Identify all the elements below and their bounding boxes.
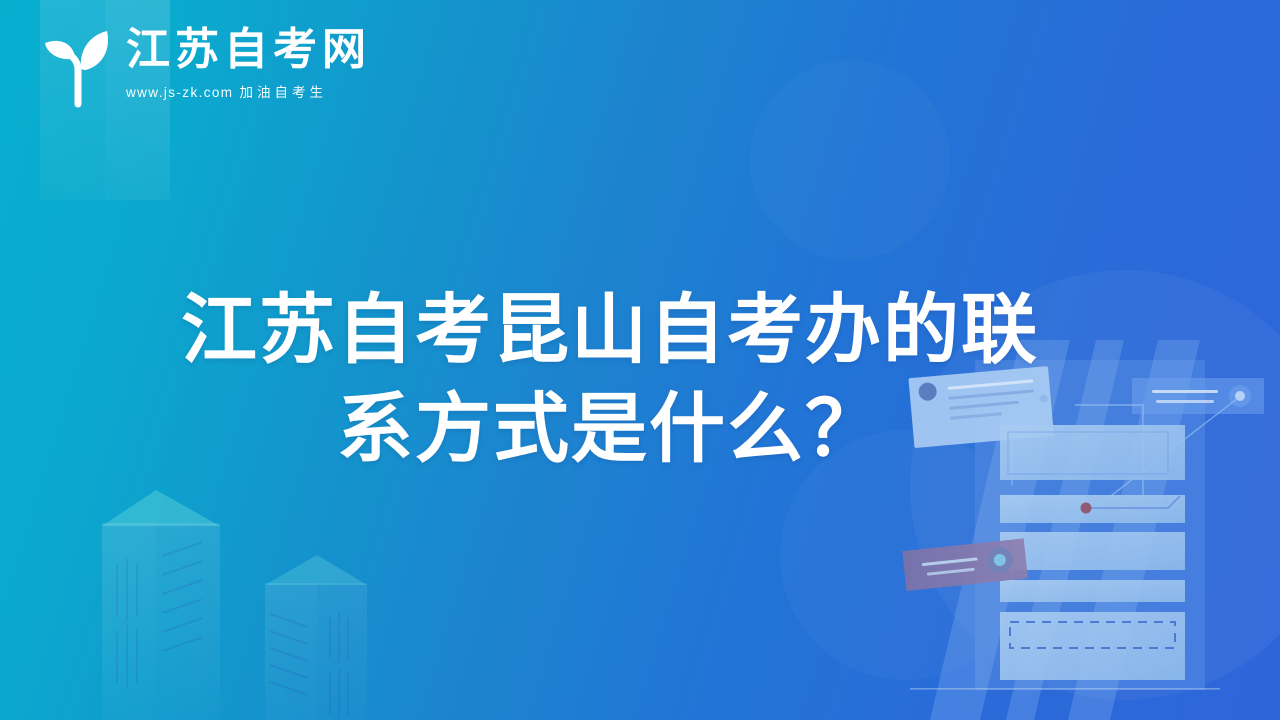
building-face-right xyxy=(317,583,367,720)
building-small-bottom-left xyxy=(265,555,367,720)
building-roof xyxy=(102,490,220,526)
site-logo[interactable]: 江苏自考网 www.js-zk.com加油自考生 xyxy=(34,18,371,108)
building-large-bottom-left xyxy=(102,490,220,720)
page-title-line-2: 系方式是什么？ xyxy=(110,381,1110,480)
purple-badge-card xyxy=(902,538,1028,591)
site-name: 江苏自考网 xyxy=(126,25,371,74)
building-face-left xyxy=(102,523,156,720)
site-url: www.js-zk.com xyxy=(126,85,233,100)
decor-blob-small xyxy=(750,60,950,260)
dashed-placeholder-box xyxy=(1010,622,1175,648)
promo-banner: 江苏自考网 www.js-zk.com加油自考生 江苏自考昆山自考办的联 系方式… xyxy=(0,0,1280,720)
site-tagline: www.js-zk.com加油自考生 xyxy=(126,81,371,101)
site-slogan: 加油自考生 xyxy=(239,85,327,100)
page-title-line-1: 江苏自考昆山自考办的联 xyxy=(110,282,1110,381)
page-title: 江苏自考昆山自考办的联 系方式是什么？ xyxy=(110,282,1110,480)
building-face-left xyxy=(265,583,317,720)
contact-tag-card xyxy=(1132,378,1264,414)
building-roof xyxy=(265,555,367,585)
sprout-leaf-icon xyxy=(34,18,120,108)
building-face-right xyxy=(156,523,220,720)
illustration-base-line xyxy=(910,688,1220,690)
